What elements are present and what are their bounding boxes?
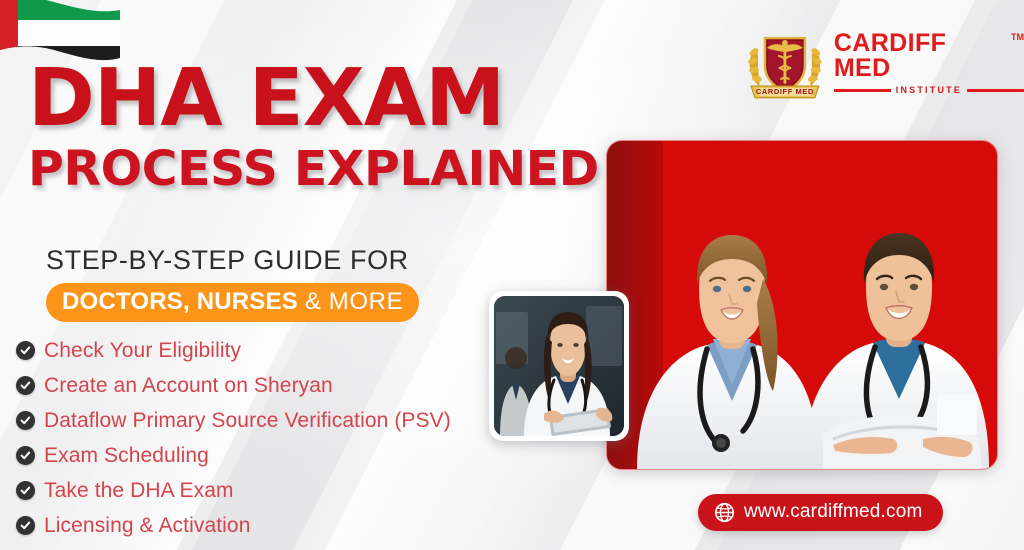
check-circle-icon: [16, 376, 35, 395]
list-item: Licensing & Activation: [16, 508, 451, 543]
check-circle-icon: [16, 341, 35, 360]
list-item: Take the DHA Exam: [16, 473, 451, 508]
audience-badge: DOCTORS, NURSES & MORE: [46, 283, 419, 322]
brand-wordmark: CARDIFF MED TM INSTITUTE: [834, 31, 1024, 95]
brand-logo[interactable]: CARDIFF MED CARDIFF MED TM INSTITUTE: [745, 26, 1024, 100]
trademark-symbol: TM: [1011, 32, 1024, 42]
audience-primary: DOCTORS, NURSES: [62, 288, 298, 316]
audience-secondary: & MORE: [305, 288, 403, 316]
list-item-label: Take the DHA Exam: [44, 479, 234, 503]
dha-exam-promo-banner: CARDIFF MED CARDIFF MED TM INSTITUTE DHA…: [0, 0, 1024, 550]
headline-line-2: PROCESS EXPLAINED: [28, 145, 640, 193]
list-item: Exam Scheduling: [16, 438, 451, 473]
check-circle-icon: [16, 516, 35, 535]
check-circle-icon: [16, 446, 35, 465]
list-item: Create an Account on Sheryan: [16, 368, 451, 403]
inset-doctor-illustration: [494, 296, 624, 436]
doctors-illustration: [607, 140, 998, 469]
website-badge[interactable]: www.cardiffmed.com: [698, 494, 943, 531]
wordmark-rule-right: [967, 89, 1024, 92]
website-url: www.cardiffmed.com: [744, 501, 923, 523]
subheading: STEP-BY-STEP GUIDE FOR DOCTORS, NURSES &…: [46, 245, 419, 322]
list-item-label: Dataflow Primary Source Verification (PS…: [44, 409, 451, 433]
crest-banner-text: CARDIFF MED: [756, 87, 814, 96]
steps-list: Check Your Eligibility Create an Account…: [16, 333, 451, 543]
two-doctors-photo: [606, 140, 998, 470]
headline-line-1: DHA EXAM: [28, 62, 640, 135]
list-item-label: Licensing & Activation: [44, 514, 251, 538]
check-circle-icon: [16, 411, 35, 430]
brand-name: CARDIFF MED: [834, 31, 1010, 81]
wordmark-rule-left: [834, 89, 891, 92]
list-item-label: Check Your Eligibility: [44, 339, 241, 363]
doctor-with-tablet-photo: [489, 291, 629, 441]
check-circle-icon: [16, 481, 35, 500]
list-item: Dataflow Primary Source Verification (PS…: [16, 403, 451, 438]
inset-photo-inner: [494, 296, 624, 436]
subheading-line: STEP-BY-STEP GUIDE FOR: [46, 245, 419, 276]
cardiff-med-crest-icon: CARDIFF MED: [745, 26, 825, 100]
list-item-label: Create an Account on Sheryan: [44, 374, 333, 398]
brand-subtitle: INSTITUTE: [896, 85, 962, 95]
page-title: DHA EXAM PROCESS EXPLAINED: [28, 62, 628, 193]
globe-icon: [714, 502, 735, 523]
list-item-label: Exam Scheduling: [44, 444, 209, 468]
list-item: Check Your Eligibility: [16, 333, 451, 368]
